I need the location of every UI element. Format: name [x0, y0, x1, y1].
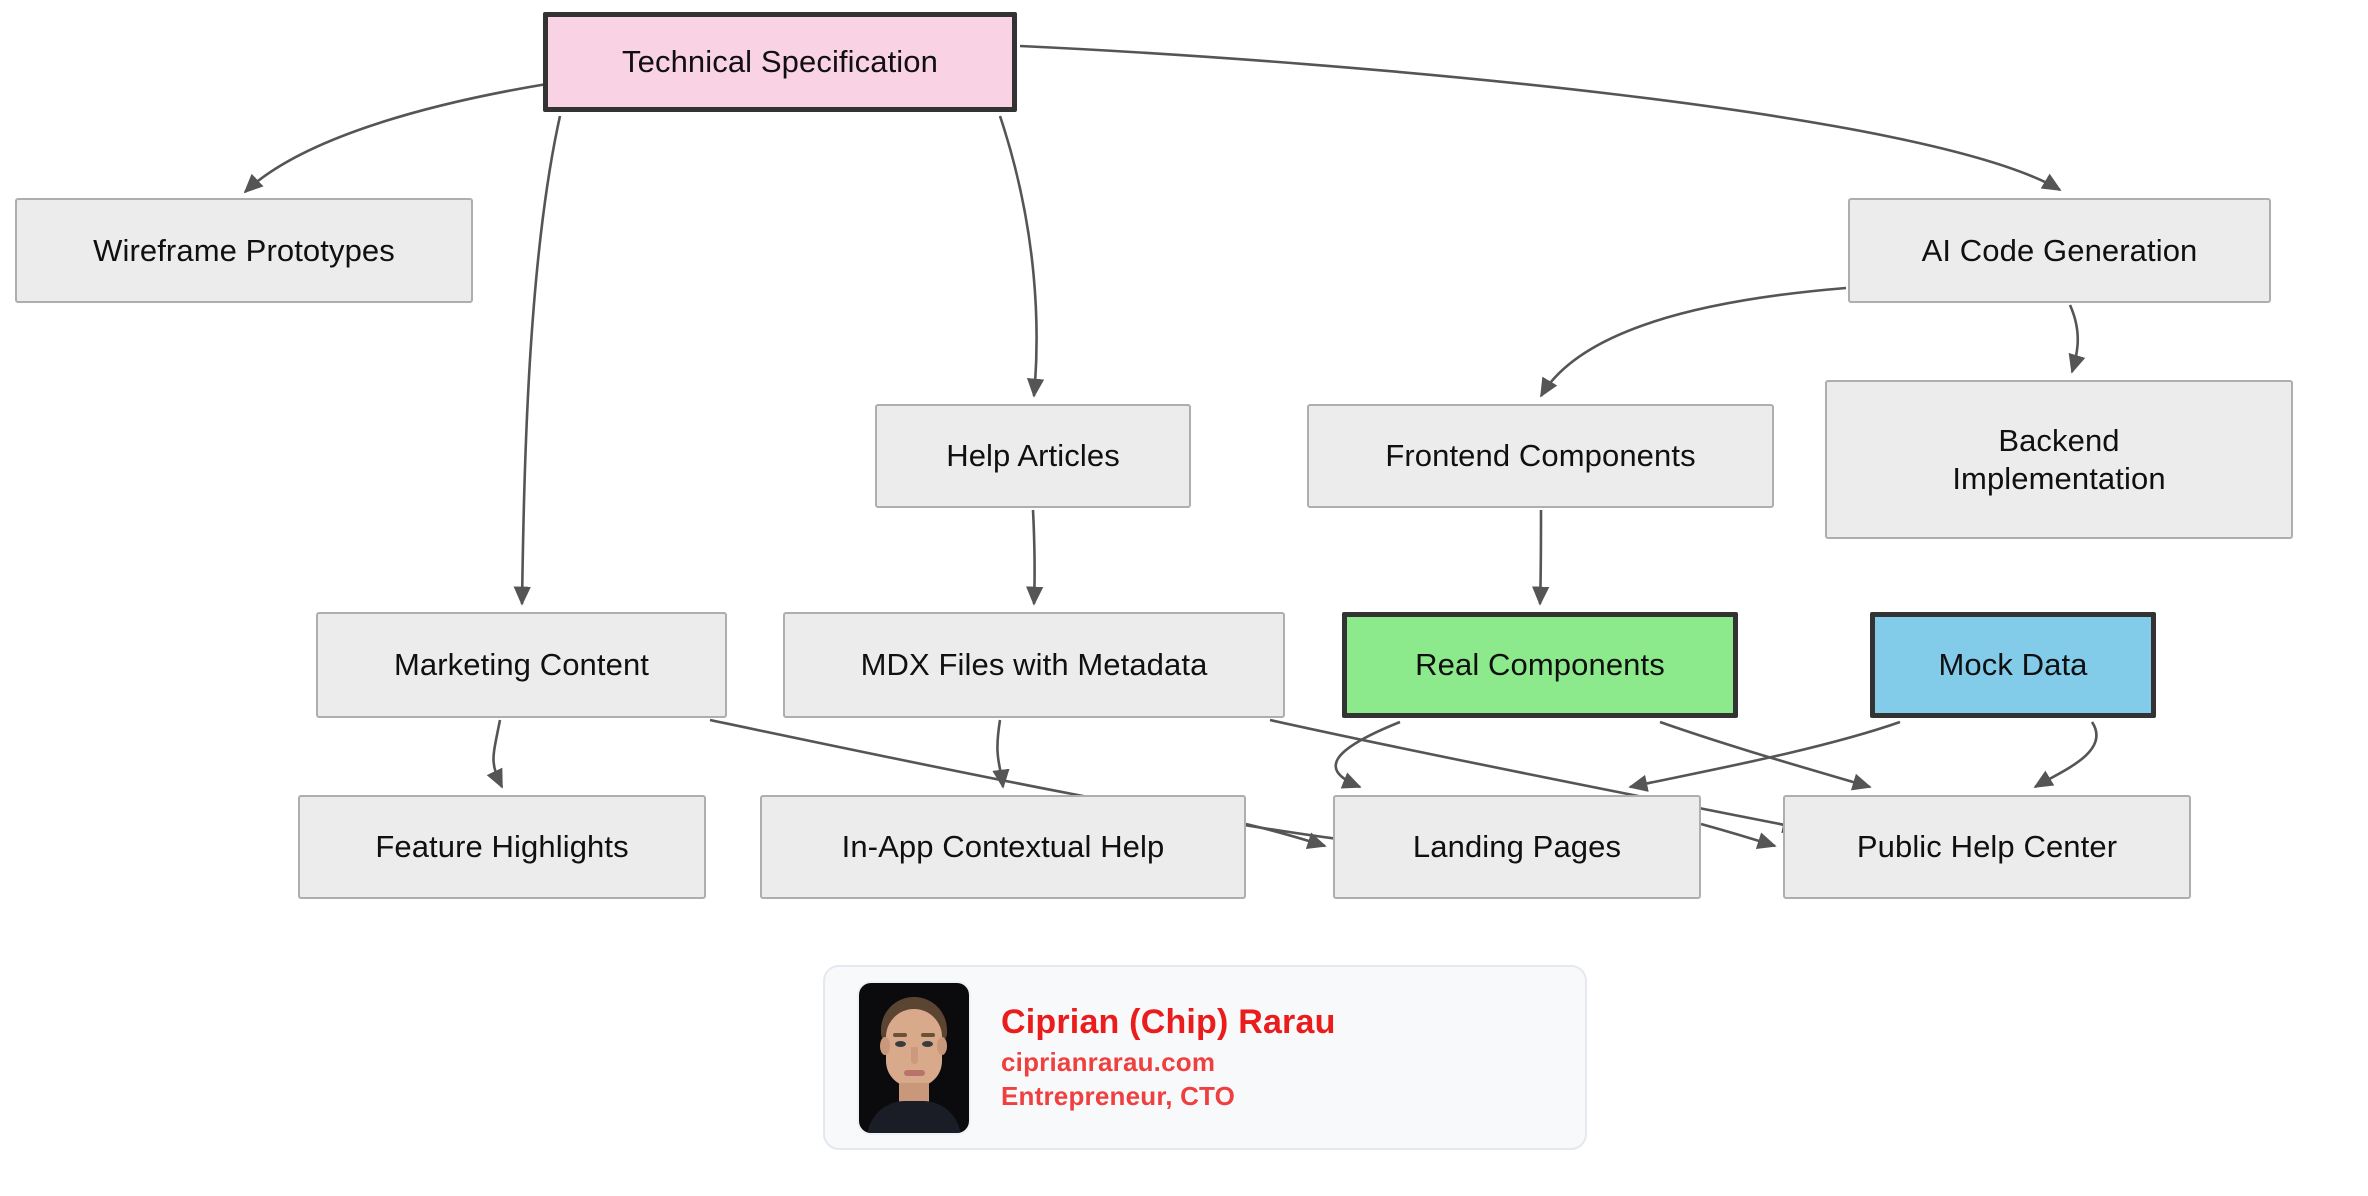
avatar-nose	[911, 1047, 918, 1064]
profile-website-link[interactable]: ciprianrarau.com	[1001, 1045, 1336, 1079]
node-backend-implementation[interactable]: Backend Implementation	[1825, 380, 2293, 539]
node-marketing-content[interactable]: Marketing Content	[316, 612, 727, 718]
avatar-eye-left	[895, 1041, 906, 1047]
edge-tech-spec-to-marketing-content	[522, 116, 560, 604]
avatar-brow-right	[921, 1033, 935, 1037]
node-label: Frontend Components	[1385, 437, 1695, 475]
avatar	[859, 983, 969, 1133]
edge-tech-spec-to-ai-code-generation	[1020, 46, 2060, 190]
avatar-ear-right	[937, 1037, 947, 1055]
node-in-app-contextual-help[interactable]: In-App Contextual Help	[760, 795, 1246, 899]
profile-card[interactable]: Ciprian (Chip) Rarau ciprianrarau.com En…	[823, 965, 1587, 1150]
node-label: Mock Data	[1938, 646, 2087, 684]
edge-ai-code-generation-to-backend-implementation	[2070, 305, 2078, 372]
node-label: AI Code Generation	[1922, 232, 2198, 270]
profile-name: Ciprian (Chip) Rarau	[1001, 1001, 1336, 1045]
profile-role: Entrepreneur, CTO	[1001, 1079, 1336, 1113]
edge-mock-data-to-landing-pages	[1630, 722, 1900, 787]
node-label: Wireframe Prototypes	[93, 232, 395, 270]
node-ai-code-generation[interactable]: AI Code Generation	[1848, 198, 2271, 303]
avatar-shoulders	[867, 1101, 961, 1133]
edge-marketing-content-to-feature-highlights	[494, 720, 503, 787]
node-public-help-center[interactable]: Public Help Center	[1783, 795, 2191, 899]
node-feature-highlights[interactable]: Feature Highlights	[298, 795, 706, 899]
avatar-ear-left	[880, 1037, 890, 1055]
node-help-articles[interactable]: Help Articles	[875, 404, 1191, 508]
flowchart-canvas: Technical SpecificationWireframe Prototy…	[0, 0, 2368, 1196]
node-label: Public Help Center	[1857, 828, 2117, 866]
profile-text: Ciprian (Chip) Rarau ciprianrarau.com En…	[1001, 1001, 1336, 1113]
node-label: Landing Pages	[1413, 828, 1621, 866]
edge-frontend-components-to-real-components	[1540, 510, 1541, 604]
node-label: Feature Highlights	[375, 828, 628, 866]
node-label: Real Components	[1415, 646, 1665, 684]
node-landing-pages[interactable]: Landing Pages	[1333, 795, 1701, 899]
edge-real-components-to-landing-pages	[1336, 722, 1400, 787]
node-label: In-App Contextual Help	[842, 828, 1165, 866]
edge-in-app-contextual-help-to-landing-pages	[1246, 824, 1325, 846]
node-label: Help Articles	[946, 437, 1120, 475]
node-real-components[interactable]: Real Components	[1342, 612, 1738, 718]
node-tech-spec[interactable]: Technical Specification	[543, 12, 1017, 112]
node-label: Technical Specification	[622, 43, 938, 81]
node-wireframe-prototypes[interactable]: Wireframe Prototypes	[15, 198, 473, 303]
edge-tech-spec-to-help-articles	[1000, 116, 1037, 396]
node-mdx-files[interactable]: MDX Files with Metadata	[783, 612, 1285, 718]
avatar-eye-right	[922, 1041, 933, 1047]
node-frontend-components[interactable]: Frontend Components	[1307, 404, 1774, 508]
edge-mdx-files-to-in-app-contextual-help	[997, 720, 1003, 787]
node-label: MDX Files with Metadata	[861, 646, 1208, 684]
avatar-brow-left	[893, 1033, 907, 1037]
node-mock-data[interactable]: Mock Data	[1870, 612, 2156, 718]
node-label: Marketing Content	[394, 646, 649, 684]
edge-mock-data-to-public-help-center	[2035, 722, 2096, 787]
edge-help-articles-to-mdx-files	[1033, 510, 1035, 604]
avatar-mouth	[904, 1070, 925, 1076]
edge-tech-spec-to-wireframe-prototypes	[245, 84, 547, 192]
edge-real-components-to-public-help-center	[1660, 722, 1870, 787]
node-label: Backend Implementation	[1952, 422, 2165, 498]
edge-ai-code-generation-to-frontend-components	[1541, 288, 1846, 396]
edge-landing-pages-to-public-help-center	[1701, 824, 1775, 846]
